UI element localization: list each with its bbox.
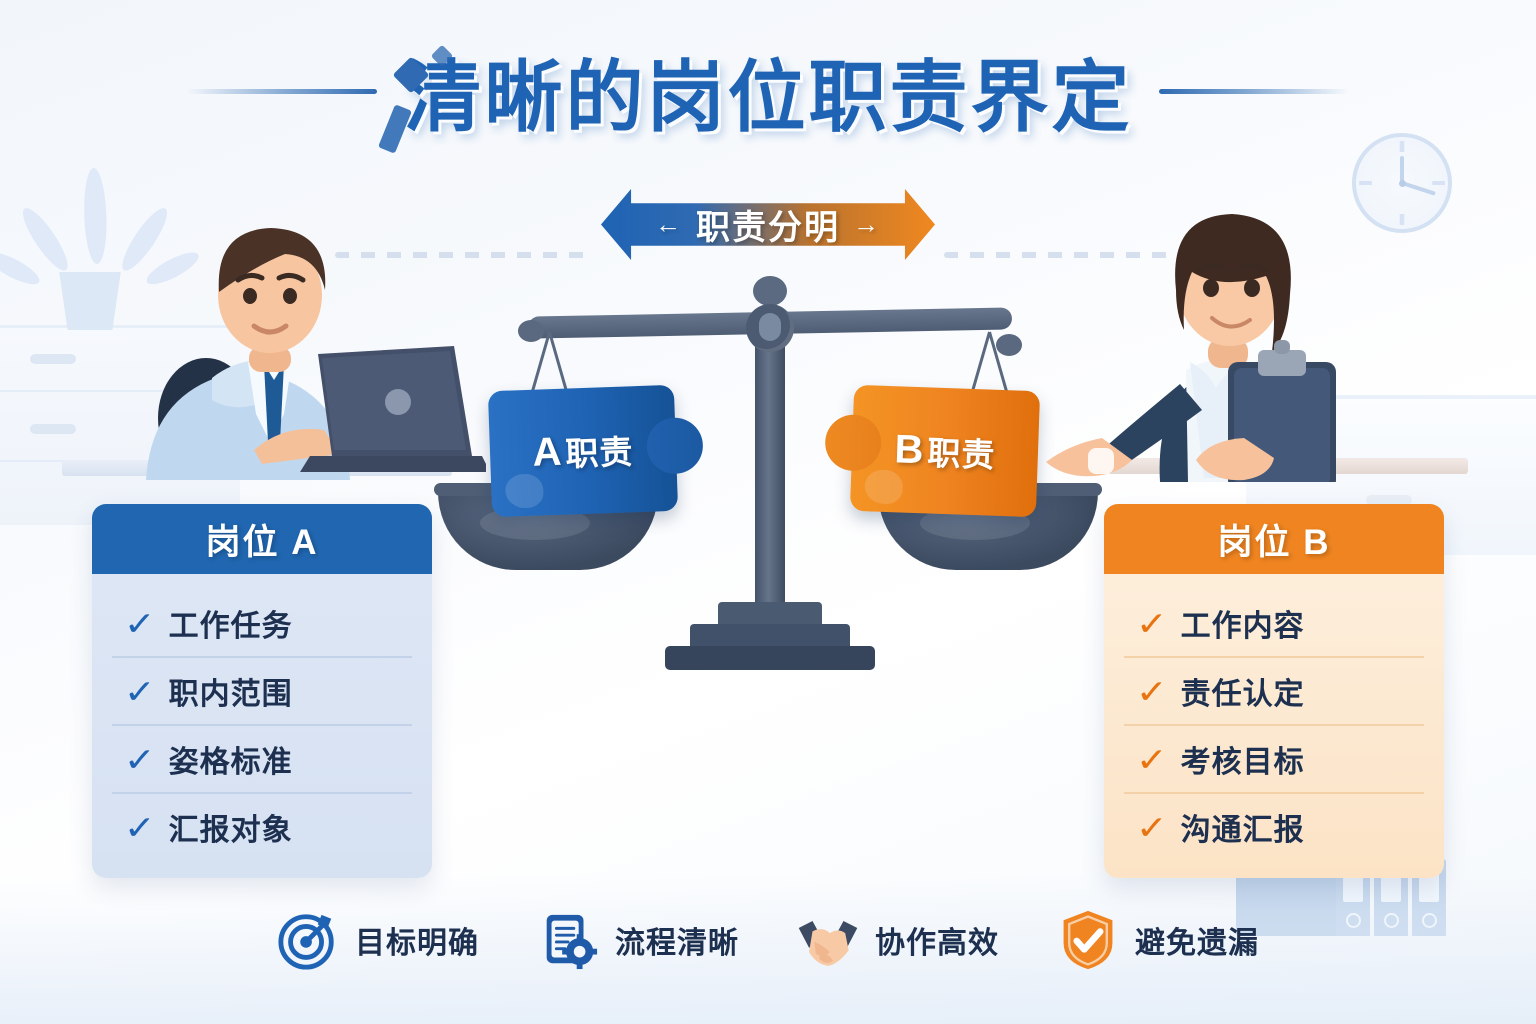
list-item[interactable]: ✓ 姿格标准 [112,724,412,792]
puzzle-piece-b: B 职责 [850,385,1040,517]
list-item[interactable]: ✓ 考核目标 [1124,724,1424,792]
banner-left-arrow-icon: ← [655,209,683,240]
check-icon: ✓ [124,743,157,776]
list-item-label: 职内范围 [169,669,293,713]
banner-right-arrow-icon: → [853,209,881,240]
feature-process-label: 流程清晰 [615,918,739,962]
list-item[interactable]: ✓ 工作内容 [1124,590,1424,656]
role-card-a-header: 岗位 A [92,504,432,574]
banner-label: 职责分明 [696,200,840,249]
check-icon: ✓ [1136,811,1169,844]
check-icon: ✓ [124,607,157,640]
role-card-b-list: ✓ 工作内容 ✓ 责任认定 ✓ 考核目标 ✓ 沟通汇报 [1104,574,1444,878]
check-icon: ✓ [1136,675,1169,708]
feature-no-omission[interactable]: 避免遗漏 [1057,909,1259,971]
list-item[interactable]: ✓ 责任认定 [1124,656,1424,724]
puzzle-piece-a: A 职责 [488,385,678,517]
document-gear-icon [537,909,599,971]
check-icon: ✓ [1136,607,1169,640]
list-item[interactable]: ✓ 汇报对象 [112,792,412,860]
feature-no-omission-label: 避免遗漏 [1135,918,1259,962]
list-item-label: 工作内容 [1181,601,1305,645]
role-card-b[interactable]: 岗位 B ✓ 工作内容 ✓ 责任认定 ✓ 考核目标 ✓ 沟通汇报 [1104,504,1444,878]
feature-target-label: 目标明确 [355,918,479,962]
puzzle-b-label: 职责 [927,426,997,476]
list-item-label: 姿格标准 [169,737,293,781]
puzzle-tab-b [824,414,882,472]
responsibility-arrow-banner: ← 职责分明 → [601,189,935,260]
infographic-canvas: 清晰的岗位职责界定 ← 职责分明 → [0,0,1536,1024]
puzzle-b-letter: B [894,427,925,473]
list-item-label: 沟通汇报 [1181,805,1305,849]
person-employee-b [1030,152,1370,482]
role-card-b-header: 岗位 B [1104,504,1444,574]
page-title-row: 清晰的岗位职责界定 [0,36,1536,146]
cabinet-handle [30,354,76,364]
list-item-label: 汇报对象 [169,805,293,849]
role-card-a-list: ✓ 工作任务 ✓ 职内范围 ✓ 姿格标准 ✓ 汇报对象 [92,574,432,878]
puzzle-a-letter: A [532,429,563,475]
feature-row: 目标明确 流程清晰 [0,892,1536,988]
check-icon: ✓ [124,811,157,844]
list-item[interactable]: ✓ 职内范围 [112,656,412,724]
puzzle-a-label: 职责 [565,425,635,475]
feature-process[interactable]: 流程清晰 [537,909,739,971]
title-rule-left [187,89,377,94]
shield-check-icon [1057,909,1119,971]
person-employee-a [86,150,486,480]
feature-target[interactable]: 目标明确 [277,909,479,971]
list-item[interactable]: ✓ 沟通汇报 [1124,792,1424,860]
role-card-a[interactable]: 岗位 A ✓ 工作任务 ✓ 职内范围 ✓ 姿格标准 ✓ 汇报对象 [92,504,432,878]
cabinet-handle [30,424,76,434]
scale-top-knob [753,276,787,306]
target-icon [277,909,339,971]
scale-hub [746,304,794,352]
feature-collaboration[interactable]: 协作高效 [797,909,999,971]
list-item[interactable]: ✓ 工作任务 [112,590,412,656]
check-icon: ✓ [1136,743,1169,776]
list-item-label: 考核目标 [1181,737,1305,781]
scale-column [755,332,785,612]
list-item-label: 责任认定 [1181,669,1305,713]
list-item-label: 工作任务 [169,601,293,645]
handshake-icon [797,909,859,971]
page-title: 清晰的岗位职责界定 [403,35,1132,147]
check-icon: ✓ [124,675,157,708]
scale-base [665,646,875,670]
title-rule-right [1159,89,1349,94]
feature-collaboration-label: 协作高效 [875,918,999,962]
